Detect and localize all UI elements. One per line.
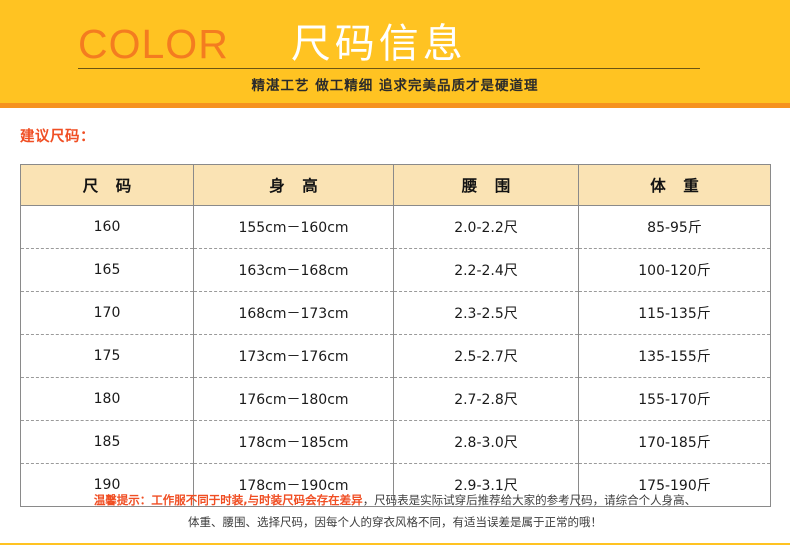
cell-size: 175 bbox=[21, 335, 194, 378]
cell-waist: 2.5-2.7尺 bbox=[394, 335, 579, 378]
size-chart-header: 尺 码 身 高 腰 围 体 重 bbox=[21, 165, 771, 206]
banner-accent-bar bbox=[0, 103, 790, 108]
size-chart-body: 160 155cm－160cm 2.0-2.2尺 85-95斤 165 163c… bbox=[21, 206, 771, 507]
footer-line-2: 体重、腰围、选择尺码，因每个人的穿衣风格不同，有适当误差是属于正常的哦！ bbox=[0, 511, 790, 533]
cell-weight: 135-155斤 bbox=[579, 335, 771, 378]
banner-title-row: COLOR 尺码信息 bbox=[78, 14, 700, 66]
table-row: 165 163cm－168cm 2.2-2.4尺 100-120斤 bbox=[21, 249, 771, 292]
cell-weight: 85-95斤 bbox=[579, 206, 771, 249]
cell-height: 176cm－180cm bbox=[194, 378, 394, 421]
cell-height: 168cm－173cm bbox=[194, 292, 394, 335]
cell-size: 185 bbox=[21, 421, 194, 464]
size-chart-table: 尺 码 身 高 腰 围 体 重 160 155cm－160cm 2.0-2.2尺… bbox=[20, 164, 771, 507]
column-header-height: 身 高 bbox=[194, 165, 394, 206]
bottom-rule bbox=[0, 543, 790, 545]
banner-title-underline bbox=[78, 68, 700, 69]
column-header-waist: 腰 围 bbox=[394, 165, 579, 206]
cell-waist: 2.7-2.8尺 bbox=[394, 378, 579, 421]
cell-weight: 155-170斤 bbox=[579, 378, 771, 421]
cell-height: 163cm－168cm bbox=[194, 249, 394, 292]
column-header-size: 尺 码 bbox=[21, 165, 194, 206]
table-row: 185 178cm－185cm 2.8-3.0尺 170-185斤 bbox=[21, 421, 771, 464]
table-row: 180 176cm－180cm 2.7-2.8尺 155-170斤 bbox=[21, 378, 771, 421]
cell-size: 180 bbox=[21, 378, 194, 421]
cell-waist: 2.2-2.4尺 bbox=[394, 249, 579, 292]
cell-height: 173cm－176cm bbox=[194, 335, 394, 378]
page-banner: COLOR 尺码信息 精湛工艺 做工精细 追求完美品质才是硬道理 bbox=[0, 0, 790, 108]
table-row: 170 168cm－173cm 2.3-2.5尺 115-135斤 bbox=[21, 292, 771, 335]
footer-highlight: 温馨提示：工作服不同于时装,与时装尺码会存在差异 bbox=[94, 493, 363, 507]
cell-waist: 2.3-2.5尺 bbox=[394, 292, 579, 335]
cell-weight: 100-120斤 bbox=[579, 249, 771, 292]
column-header-weight: 体 重 bbox=[579, 165, 771, 206]
cell-size: 170 bbox=[21, 292, 194, 335]
suggested-size-label: 建议尺码： bbox=[20, 125, 95, 146]
banner-title-english: COLOR bbox=[78, 22, 229, 66]
footer-line-1: 温馨提示：工作服不同于时装,与时装尺码会存在差异，尺码表是实际试穿后推荐给大家的… bbox=[0, 489, 790, 511]
table-header-row: 尺 码 身 高 腰 围 体 重 bbox=[21, 165, 771, 206]
cell-waist: 2.0-2.2尺 bbox=[394, 206, 579, 249]
cell-height: 155cm－160cm bbox=[194, 206, 394, 249]
cell-waist: 2.8-3.0尺 bbox=[394, 421, 579, 464]
footer-line-1-rest: ，尺码表是实际试穿后推荐给大家的参考尺码，请综合个人身高、 bbox=[363, 493, 697, 507]
table-row: 160 155cm－160cm 2.0-2.2尺 85-95斤 bbox=[21, 206, 771, 249]
cell-weight: 170-185斤 bbox=[579, 421, 771, 464]
footer-disclaimer: 温馨提示：工作服不同于时装,与时装尺码会存在差异，尺码表是实际试穿后推荐给大家的… bbox=[0, 489, 790, 533]
banner-title-chinese: 尺码信息 bbox=[291, 22, 467, 66]
cell-height: 178cm－185cm bbox=[194, 421, 394, 464]
banner-inner: COLOR 尺码信息 精湛工艺 做工精细 追求完美品质才是硬道理 bbox=[0, 0, 790, 108]
cell-size: 165 bbox=[21, 249, 194, 292]
cell-weight: 115-135斤 bbox=[579, 292, 771, 335]
banner-subtitle: 精湛工艺 做工精细 追求完美品质才是硬道理 bbox=[0, 76, 790, 96]
cell-size: 160 bbox=[21, 206, 194, 249]
table-row: 175 173cm－176cm 2.5-2.7尺 135-155斤 bbox=[21, 335, 771, 378]
